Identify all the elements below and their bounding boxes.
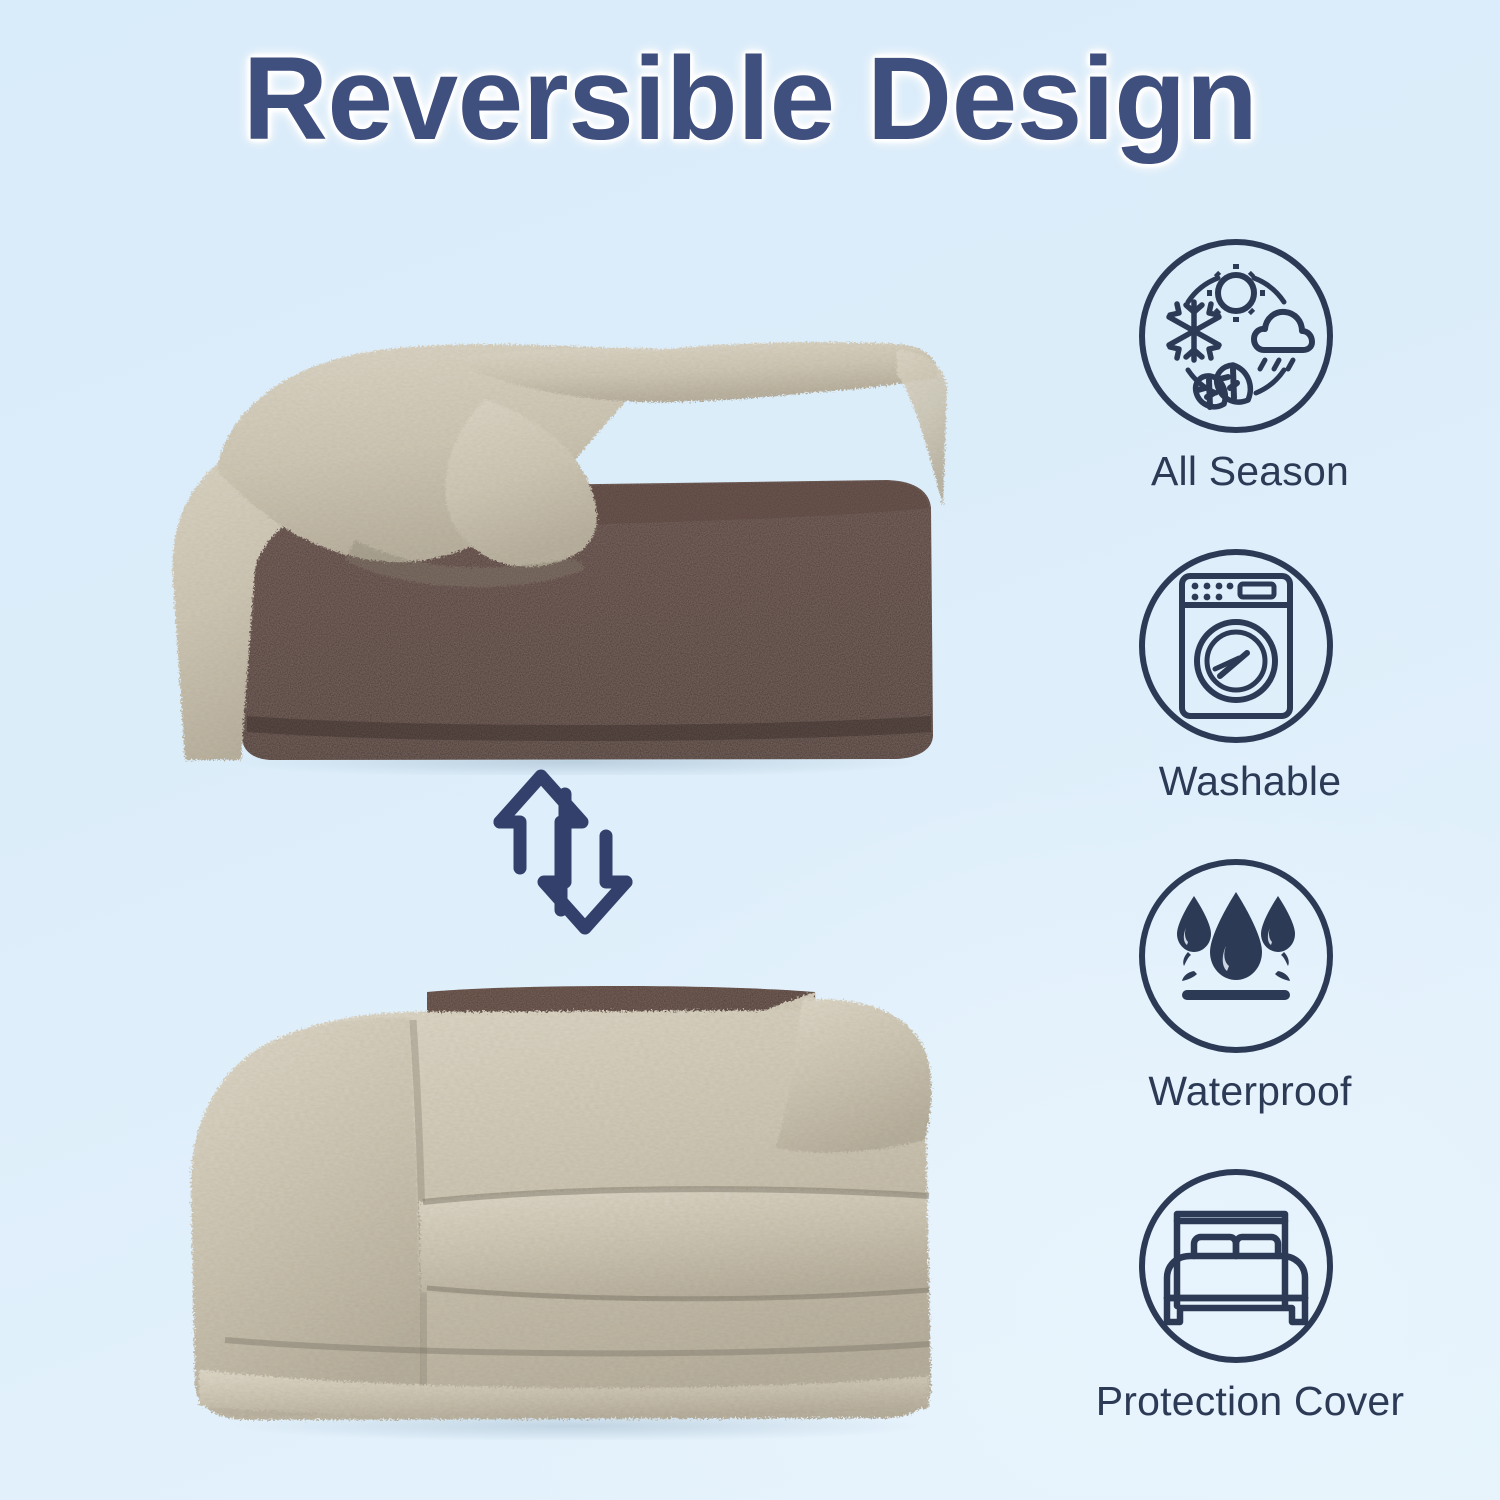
feature-label: Protection Cover [1020, 1378, 1480, 1425]
water-droplets-icon [1136, 856, 1336, 1056]
feature-item-protection-cover: Protection Cover [1020, 1166, 1480, 1476]
reversible-arrow [478, 760, 648, 945]
feature-label: Waterproof [1020, 1068, 1480, 1115]
product-photo-brown-side [155, 330, 965, 775]
all-season-icon [1136, 236, 1336, 436]
infographic-canvas: Reversible Design [0, 0, 1500, 1500]
feature-label: Washable [1020, 758, 1480, 805]
product-photo-sherpa-side [155, 940, 965, 1440]
feature-list: All Season [1020, 236, 1480, 1476]
page-title: Reversible Design [0, 38, 1500, 162]
washing-machine-icon [1136, 546, 1336, 746]
feature-item-waterproof: Waterproof [1020, 856, 1480, 1166]
feature-item-all-season: All Season [1020, 236, 1480, 546]
feature-label: All Season [1020, 448, 1480, 495]
feature-item-washable: Washable [1020, 546, 1480, 856]
bed-icon [1136, 1166, 1336, 1366]
